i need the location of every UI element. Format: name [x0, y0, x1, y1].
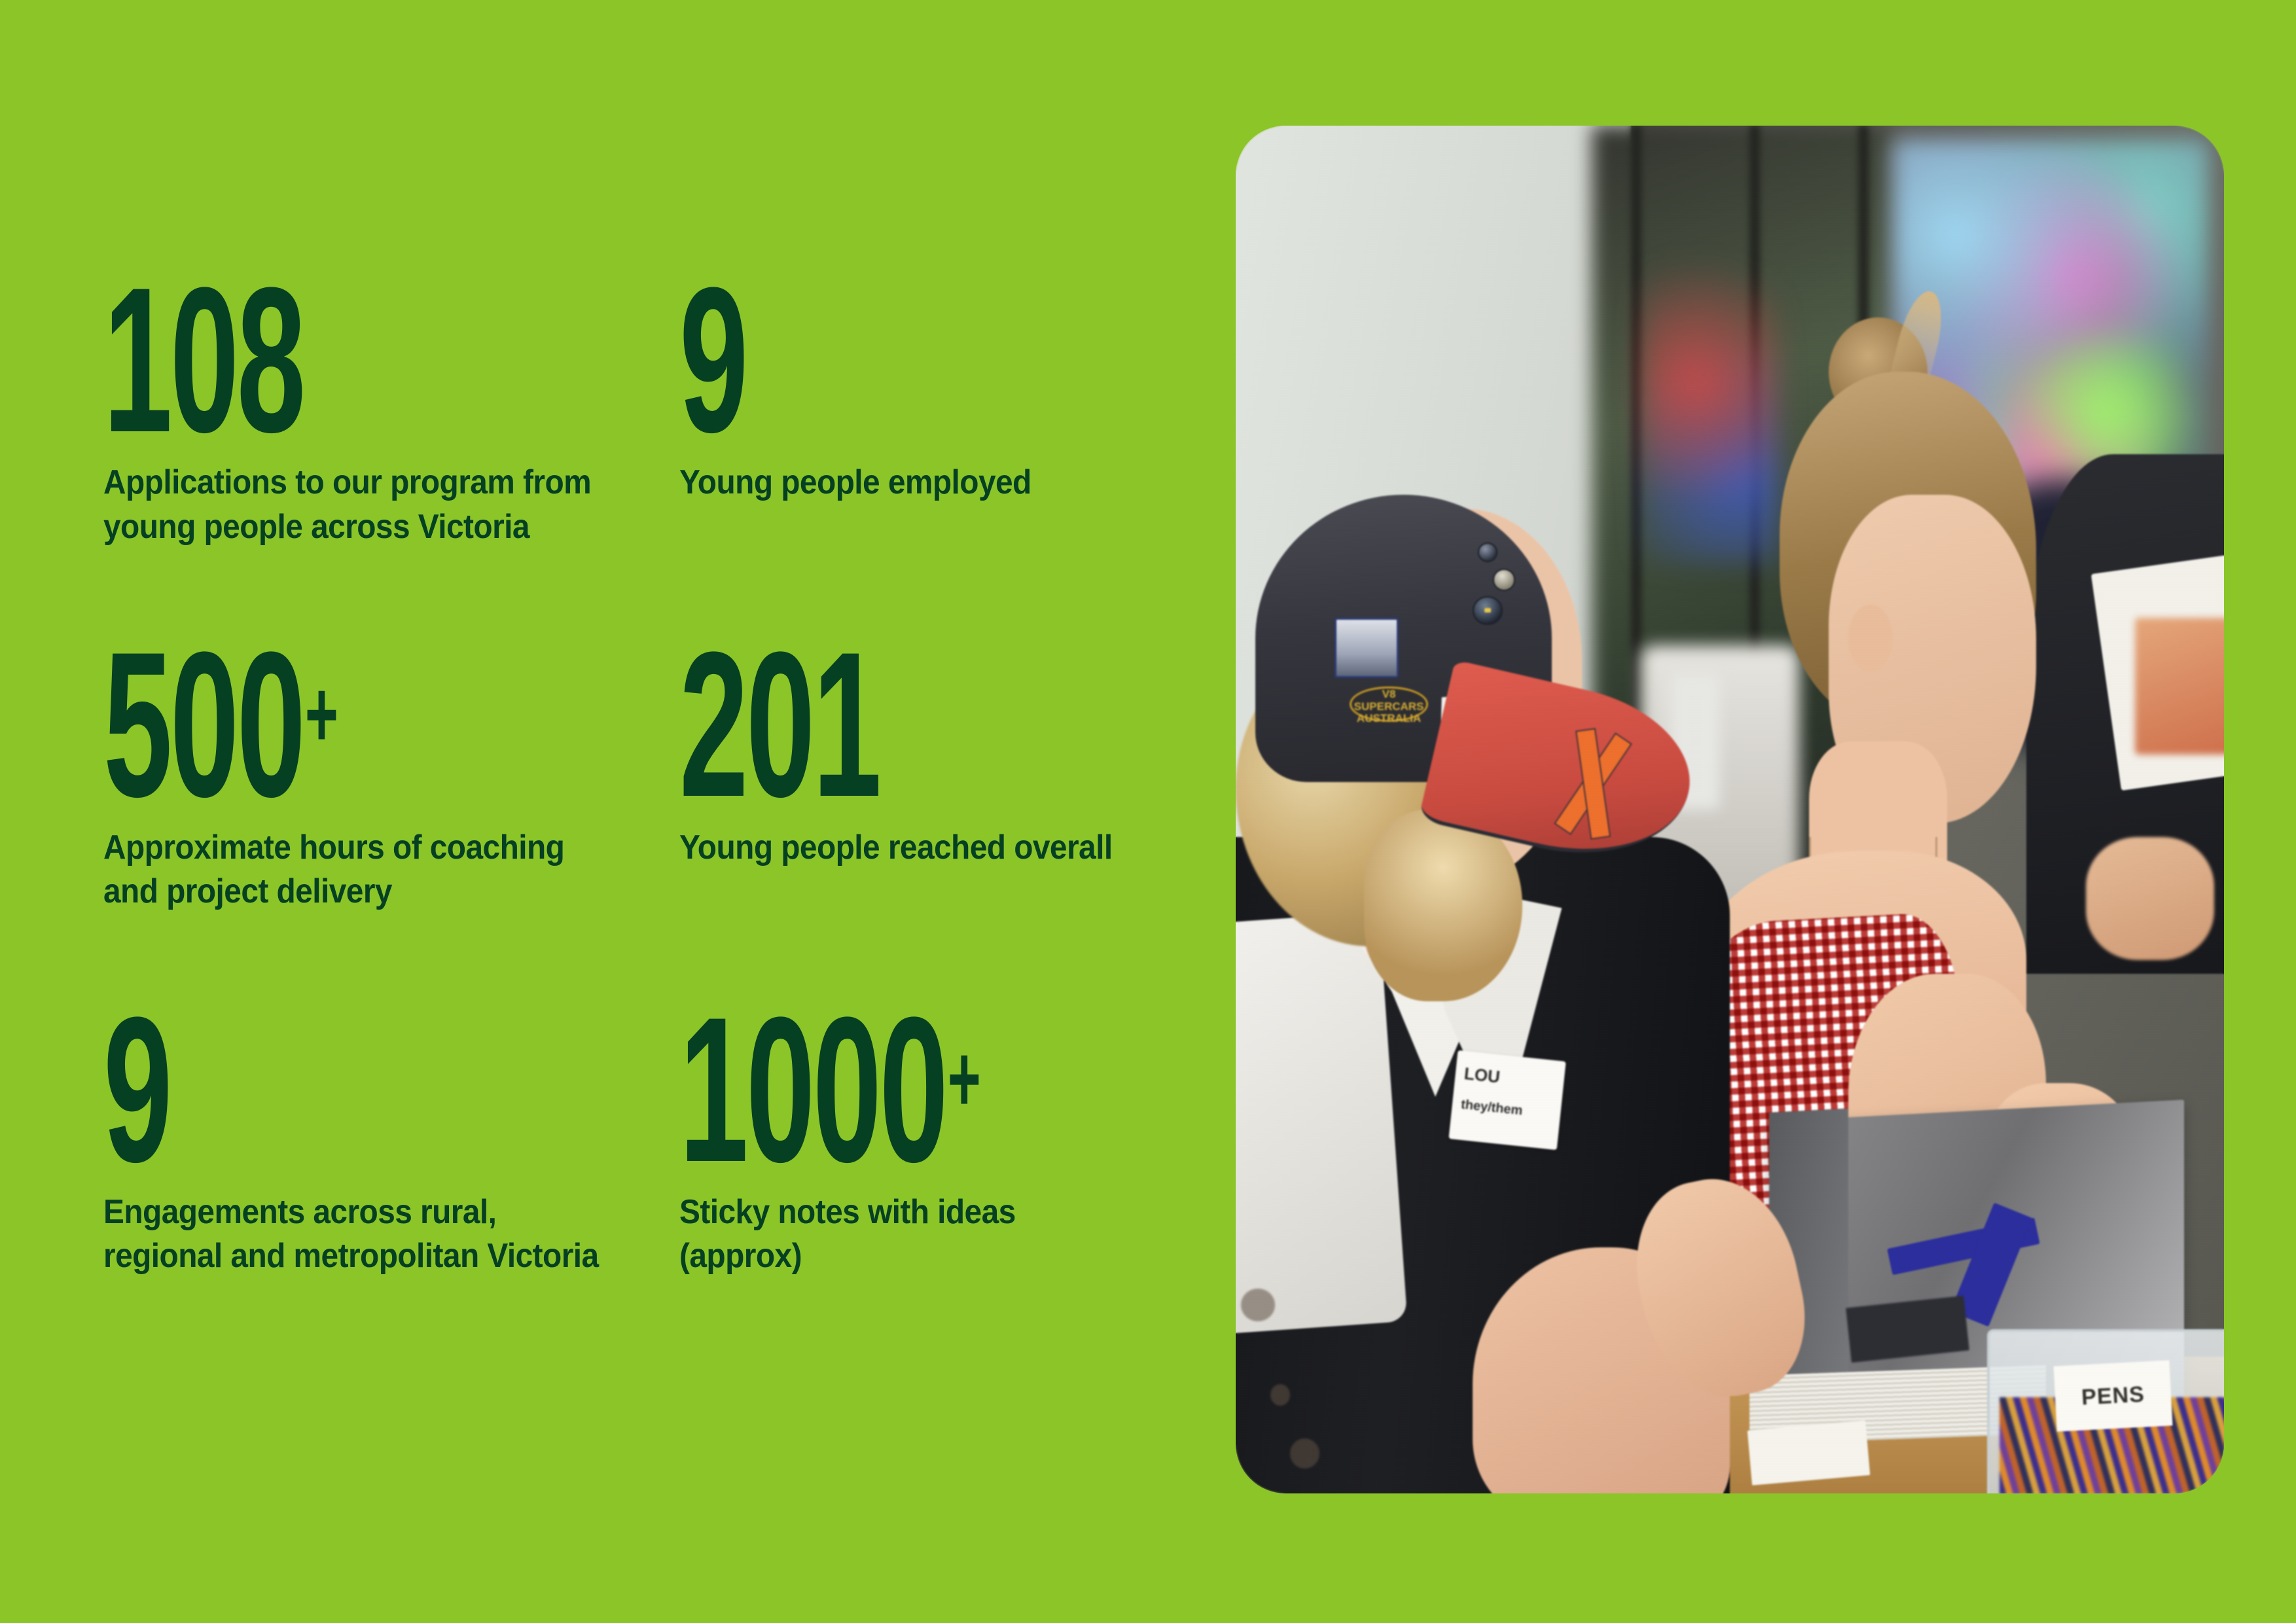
pen-container-label: PENS — [2053, 1360, 2172, 1431]
graffiti-art — [1641, 262, 1779, 563]
name-tag: LOU they/them — [1449, 1050, 1566, 1150]
stat-label: Young people reached overall — [679, 826, 1137, 870]
cap-supercars-badge: V8 SUPERCARS AUSTRALIA — [1350, 687, 1429, 722]
stat-number: 500+ — [103, 646, 449, 803]
cap-badge-text: V8 SUPERCARS AUSTRALIA — [1352, 688, 1427, 720]
stat-number: 1000+ — [679, 1011, 986, 1168]
stat-block-employed: 9 Young people employed — [679, 281, 1190, 549]
stat-block-applications: 108 Applications to our program from you… — [103, 281, 679, 549]
tattoo — [1270, 1384, 1290, 1406]
cap-pin-icon — [1478, 543, 1498, 562]
tattoo — [1241, 1289, 1276, 1321]
cap-car-patch-icon — [1335, 618, 1399, 678]
person-back-hand — [2086, 837, 2214, 960]
stat-label: Sticky notes with ideas (approx) — [679, 1190, 1137, 1279]
stat-block-engagements: 9 Engagements across rural, regional and… — [103, 1011, 679, 1279]
stat-number-value: 9 — [679, 244, 746, 475]
stat-number-value: 108 — [103, 244, 304, 475]
stat-number-suffix: + — [948, 1025, 981, 1132]
pen-label-text: PENS — [2081, 1382, 2145, 1410]
stat-label: Engagements across rural, regional and m… — [103, 1190, 609, 1279]
paper-scrap — [1748, 1420, 1871, 1485]
cap-pin-icon — [1493, 569, 1516, 590]
name-tag-name: LOU — [1463, 1063, 1501, 1088]
stat-label: Approximate hours of coaching and projec… — [103, 826, 609, 914]
stat-block-sticky-notes: 1000+ Sticky notes with ideas (approx) — [679, 1011, 1190, 1279]
stat-number-value: 1000 — [679, 974, 946, 1205]
name-tag-pronouns: they/them — [1460, 1097, 1523, 1119]
stat-number: 108 — [103, 281, 449, 438]
pen-container: PENS — [1987, 1329, 2224, 1493]
person-back-paper-art — [2135, 618, 2224, 755]
cap-pin-icon — [1473, 596, 1502, 625]
photo-content: V8 SUPERCARS AUSTRALIA LOU they/them PEN… — [1236, 126, 2224, 1493]
stat-number-value: 500 — [103, 609, 304, 840]
stat-number: 201 — [679, 646, 986, 803]
stat-label: Young people employed — [679, 461, 1137, 505]
stat-number-value: 201 — [679, 609, 880, 840]
stat-number: 9 — [679, 281, 986, 438]
person-b-ear — [1848, 605, 1893, 673]
stat-label: Applications to our program from young p… — [103, 461, 609, 549]
stat-block-coaching-hours: 500+ Approximate hours of coaching and p… — [103, 646, 679, 914]
stat-number: 9 — [103, 1011, 449, 1168]
workshop-photo: V8 SUPERCARS AUSTRALIA LOU they/them PEN… — [1236, 126, 2224, 1493]
stat-block-reached: 201 Young people reached overall — [679, 646, 1190, 914]
stat-number-suffix: + — [305, 660, 338, 767]
stat-number-value: 9 — [103, 974, 170, 1205]
statistics-panel: 108 Applications to our program from you… — [103, 281, 1190, 1279]
